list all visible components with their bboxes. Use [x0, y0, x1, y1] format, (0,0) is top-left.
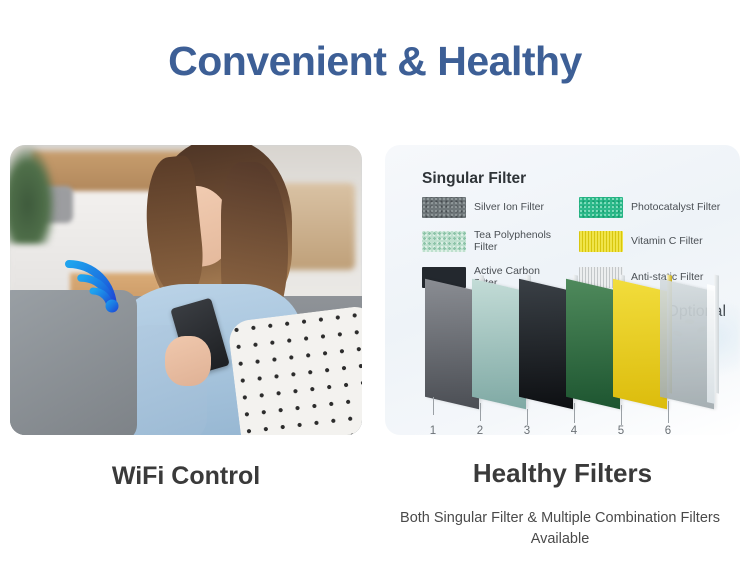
- legend-item-tea-polyphenols: Tea Polyphenols Filter: [422, 229, 565, 254]
- legend-title: Singular Filter: [422, 170, 526, 188]
- filter-layer-diagram: 1 2 3 4 5 6: [385, 275, 740, 435]
- woman-hand: [165, 336, 211, 385]
- filter-panel-2: [472, 279, 526, 409]
- filter-panel-1: [425, 279, 479, 409]
- legend-item-photocatalyst: Photocatalyst Filter: [579, 197, 722, 218]
- layer-number-5: 5: [613, 425, 629, 435]
- layer-number-2: 2: [472, 425, 488, 435]
- filter-panel-4: [566, 279, 620, 409]
- plant: [10, 145, 56, 244]
- swatch-silver-ion: [422, 197, 466, 218]
- leader-line-1: [433, 397, 434, 415]
- leader-line-6: [668, 401, 669, 423]
- legend-item-silver-ion: Silver Ion Filter: [422, 197, 565, 218]
- layer-number-4: 4: [566, 425, 582, 435]
- swatch-vitamin-c: [579, 231, 623, 252]
- leader-line-4: [574, 403, 575, 423]
- legend-label: Tea Polyphenols Filter: [474, 229, 565, 254]
- caption-healthy-filters: Healthy Filters: [385, 458, 740, 489]
- subcaption-filters: Both Singular Filter & Multiple Combinat…: [370, 508, 750, 550]
- leader-line-2: [480, 403, 481, 421]
- filter-panel-6: [660, 279, 714, 409]
- layer-number-6: 6: [660, 425, 676, 435]
- legend-item-vitamin-c: Vitamin C Filter: [579, 229, 722, 254]
- filter-panel-glass: [707, 284, 715, 404]
- legend-label: Silver Ion Filter: [474, 201, 544, 213]
- leader-line-5: [621, 405, 622, 425]
- polka-dot-pillow: [227, 305, 362, 435]
- swatch-photocatalyst: [579, 197, 623, 218]
- caption-wifi-control: WiFi Control: [10, 462, 362, 491]
- wifi-icon: [62, 258, 124, 316]
- filter-panel-3: [519, 279, 573, 409]
- filter-panel-5: [613, 279, 667, 409]
- legend-label: Photocatalyst Filter: [631, 201, 720, 213]
- page-title: Convenient & Healthy: [0, 38, 750, 85]
- layer-number-3: 3: [519, 425, 535, 435]
- legend-label: Vitamin C Filter: [631, 235, 703, 247]
- healthy-filters-image-card: * Optional Singular Filter Silver Ion Fi…: [385, 145, 740, 435]
- layer-number-1: 1: [425, 425, 441, 435]
- swatch-tea-polyphenols: [422, 231, 466, 252]
- leader-line-3: [527, 409, 528, 425]
